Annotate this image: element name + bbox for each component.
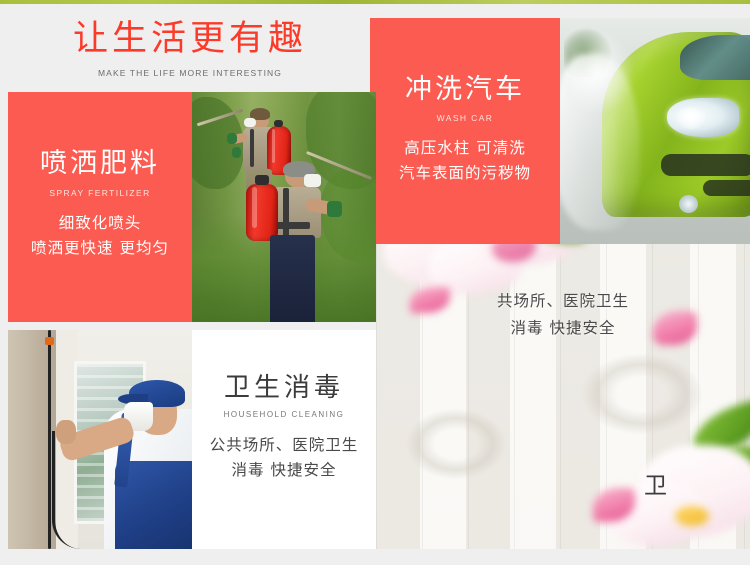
sprayer-tank-cap-front bbox=[255, 175, 269, 185]
panel-wood-flowers: 共场所、医院卫生 消毒 快捷安全 卫 bbox=[376, 244, 750, 549]
card-household-cleaning-title: 卫生消毒 bbox=[192, 372, 376, 404]
car-headlight bbox=[667, 98, 739, 137]
worker-glove2-back bbox=[232, 147, 241, 159]
sprayer-tank-front bbox=[246, 184, 278, 242]
card-spray-fertilizer-desc-line2: 喷洒更快速 更均匀 bbox=[8, 236, 192, 261]
card-wash-car: 冲洗汽车 WASH CAR 高压水柱 可清洗 汽车表面的污秽物 bbox=[370, 18, 560, 244]
card-spray-fertilizer-subtitle: SPRAY FERTILIZER bbox=[8, 188, 192, 198]
wood-knot-1 bbox=[582, 354, 702, 434]
page-title: 让生活更有趣 bbox=[0, 18, 380, 60]
car-grille bbox=[661, 154, 750, 176]
worker-mask-back bbox=[244, 118, 256, 127]
sprayer-tank-cap-back bbox=[274, 120, 283, 128]
worker-shirt-front bbox=[272, 187, 321, 239]
worker-pants-front bbox=[270, 235, 315, 322]
card-spray-fertilizer-title: 喷洒肥料 bbox=[8, 148, 192, 180]
vineyard-worker-front bbox=[240, 161, 347, 322]
card-household-cleaning-subtitle: HOUSEHOLD CLEANING bbox=[192, 410, 376, 419]
worker-glove-back bbox=[227, 133, 236, 145]
wood-panel-corner-word: 卫 bbox=[644, 466, 670, 500]
wood-panel-desc-line1: 共场所、医院卫生 bbox=[376, 288, 750, 315]
sprayer-hose-curve bbox=[52, 431, 81, 549]
product-feature-page: 让生活更有趣 MAKE THE LIFE MORE INTERESTING 冲洗… bbox=[0, 0, 750, 565]
worker-strap-front bbox=[283, 188, 289, 236]
wood-knot-2 bbox=[406, 409, 506, 479]
card-household-cleaning-desc-line2: 消毒 快捷安全 bbox=[192, 458, 376, 483]
car-lower-grille bbox=[703, 180, 750, 197]
photo-disinfection bbox=[8, 330, 192, 549]
card-wash-car-subtitle: WASH CAR bbox=[370, 113, 560, 123]
card-spray-fertilizer: 喷洒肥料 SPRAY FERTILIZER 细致化喷头 喷洒更快速 更均匀 bbox=[8, 92, 192, 322]
worker-mask-front bbox=[304, 174, 321, 187]
photo-car-wash bbox=[560, 18, 750, 244]
card-wash-car-title: 冲洗汽车 bbox=[370, 74, 560, 106]
card-wash-car-desc-line2: 汽车表面的污秽物 bbox=[370, 161, 560, 186]
sprayer-nozzle bbox=[45, 337, 54, 346]
top-image-seam bbox=[0, 0, 750, 4]
photo-vineyard-sprayer bbox=[192, 92, 376, 322]
card-wash-car-desc-line1: 高压水柱 可清洗 bbox=[370, 136, 560, 161]
card-household-cleaning: 卫生消毒 HOUSEHOLD CLEANING 公共场所、医院卫生 消毒 快捷安… bbox=[192, 330, 376, 549]
card-household-cleaning-desc-line1: 公共场所、医院卫生 bbox=[192, 433, 376, 458]
car-foglight bbox=[679, 195, 699, 214]
car-windshield bbox=[680, 35, 750, 79]
card-spray-fertilizer-desc-line1: 细致化喷头 bbox=[8, 211, 192, 236]
wood-panel-desc-line2: 消毒 快捷安全 bbox=[376, 315, 750, 342]
page-subtitle: MAKE THE LIFE MORE INTERESTING bbox=[0, 68, 380, 78]
worker-glove-front bbox=[327, 201, 342, 217]
water-mist bbox=[571, 27, 636, 117]
